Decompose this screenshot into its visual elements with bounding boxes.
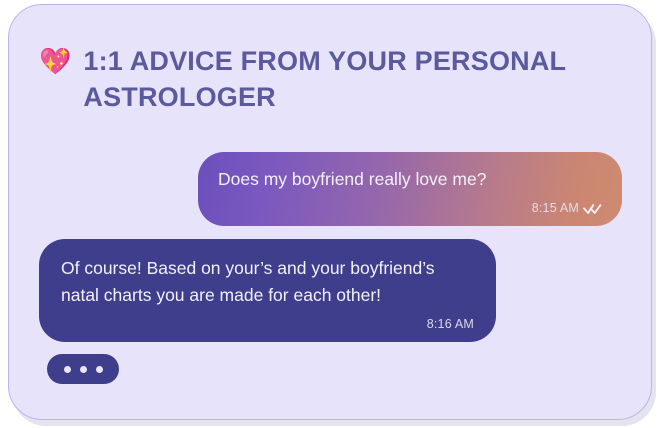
screenshot-frame: 💖 1:1 advice from your personal astrolog… [0,0,660,428]
promo-card: 💖 1:1 advice from your personal astrolog… [8,4,652,420]
typing-dot [80,366,87,373]
message-bubble-outgoing[interactable]: Does my boyfriend really love me? 8:15 A… [198,152,622,226]
typing-dot [96,366,103,373]
message-text: Of course! Based on your’s and your boyf… [61,255,474,309]
sparkling-heart-icon: 💖 [39,44,71,78]
chat-thread: Does my boyfriend really love me? 8:15 A… [9,145,652,415]
message-bubble-incoming[interactable]: Of course! Based on your’s and your boyf… [39,239,496,342]
message-text: Does my boyfriend really love me? [218,166,602,193]
message-meta: 8:15 AM [218,198,602,218]
message-timestamp: 8:16 AM [427,317,474,331]
typing-indicator [47,354,119,384]
double-check-icon [583,202,602,215]
typing-dot [64,366,71,373]
header: 💖 1:1 advice from your personal astrolog… [39,43,599,115]
page-title: 1:1 advice from your personal astrologer [83,43,573,115]
message-meta: 8:16 AM [61,314,474,334]
message-timestamp: 8:15 AM [532,201,579,215]
